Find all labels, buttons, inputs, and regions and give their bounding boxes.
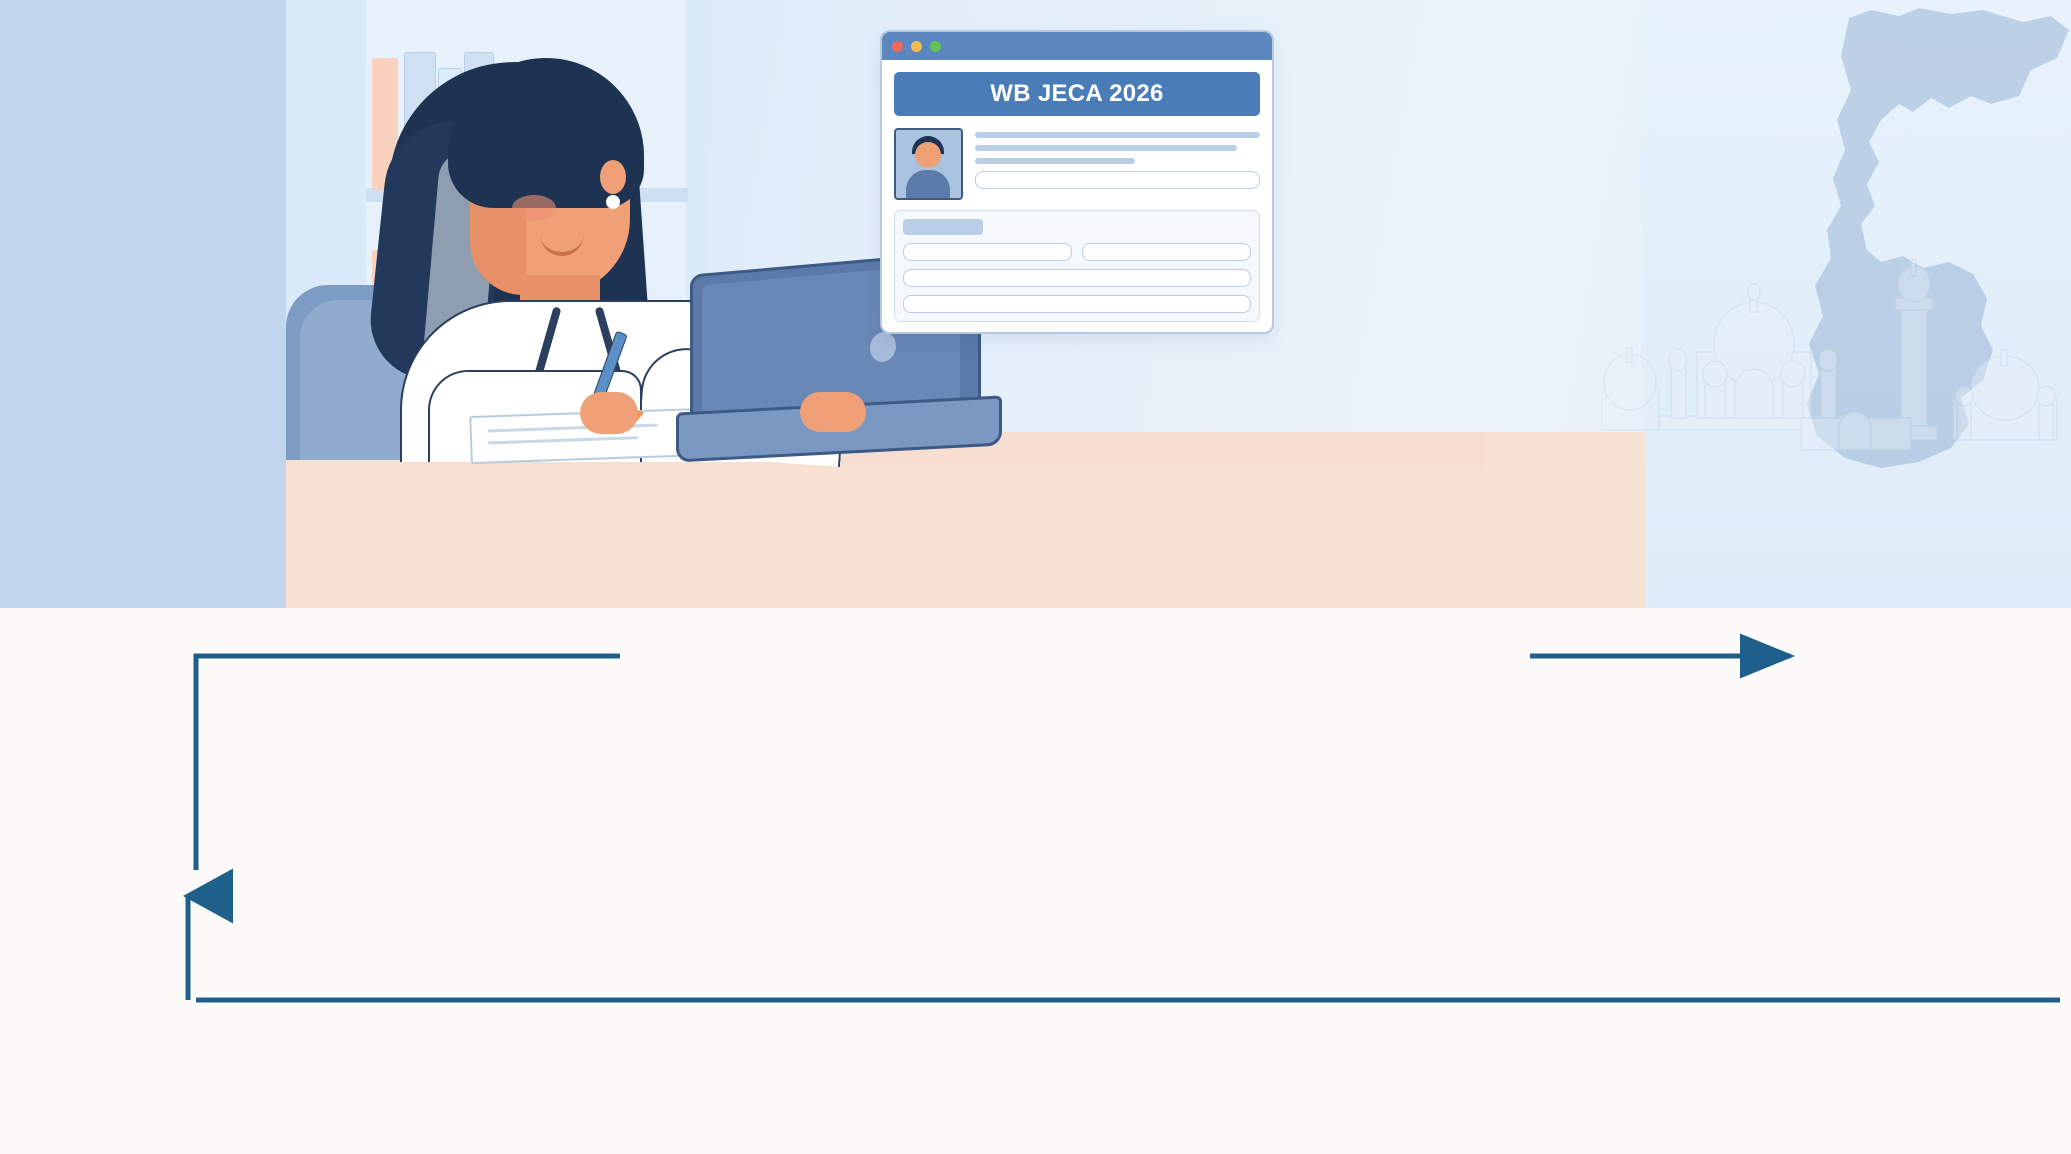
hero-left-wall xyxy=(0,0,286,608)
avatar-body-icon xyxy=(906,170,950,200)
person-cheek xyxy=(512,195,556,221)
browser-content: WB JECA 2026 xyxy=(882,60,1272,334)
avatar xyxy=(894,128,963,200)
text-input-field[interactable] xyxy=(903,295,1251,313)
text-placeholder-line xyxy=(975,145,1237,151)
timeline-connectors xyxy=(0,608,2071,1154)
timeline-section: WB JECA 2026 IMPORTANT DATES JUNE 14, 20… xyxy=(0,608,2071,1154)
section-label-tag xyxy=(903,219,983,235)
browser-titlebar xyxy=(882,32,1272,60)
person-eyebrow xyxy=(566,164,596,169)
close-icon[interactable] xyxy=(892,41,903,52)
text-placeholder-line xyxy=(975,132,1260,138)
person-eyebrow xyxy=(516,168,546,173)
form-title-banner: WB JECA 2026 xyxy=(894,72,1260,116)
text-input-field[interactable] xyxy=(903,269,1251,287)
text-input-field[interactable] xyxy=(975,171,1260,189)
person-ear xyxy=(600,160,626,194)
minimize-icon[interactable] xyxy=(911,41,922,52)
browser-window-card[interactable]: WB JECA 2026 xyxy=(880,30,1274,334)
form-section-panel xyxy=(894,210,1260,322)
maximize-icon[interactable] xyxy=(930,41,941,52)
hero-illustration: WB JECA 2026 xyxy=(0,0,2071,608)
person-eye xyxy=(574,183,583,192)
earring-icon xyxy=(606,195,620,209)
submit-button[interactable] xyxy=(894,333,1014,334)
text-placeholder-line xyxy=(975,158,1135,164)
person-hand-right xyxy=(800,392,866,432)
text-input-field[interactable] xyxy=(1082,243,1251,261)
infographic-page: WB JECA 2026 xyxy=(0,0,2071,1154)
person-hand-left xyxy=(580,392,638,434)
person-eye xyxy=(524,186,533,195)
text-input-field[interactable] xyxy=(903,243,1072,261)
india-monuments-silhouette xyxy=(1601,240,2071,460)
avatar-head-icon xyxy=(915,142,941,168)
